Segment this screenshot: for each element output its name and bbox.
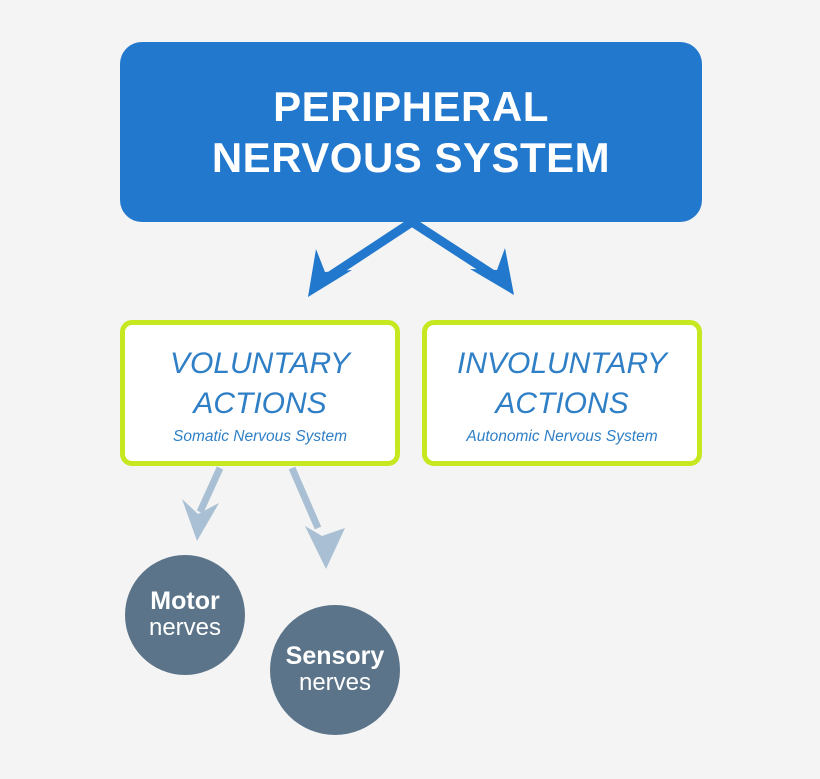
diagram-canvas: PERIPHERAL NERVOUS SYSTEM VOLUNTARY ACTI… (0, 0, 820, 779)
node-involuntary-actions-headline: INVOLUNTARY ACTIONS (457, 344, 667, 423)
node-voluntary-actions: VOLUNTARY ACTIONS Somatic Nervous System (120, 320, 400, 466)
node-motor-nerves-line-1: Motor (150, 588, 219, 614)
node-voluntary-actions-subline: Somatic Nervous System (173, 428, 347, 446)
node-voluntary-actions-headline: VOLUNTARY ACTIONS (170, 344, 350, 423)
node-motor-nerves-line-2: nerves (149, 615, 221, 642)
node-peripheral-nervous-system: PERIPHERAL NERVOUS SYSTEM (120, 42, 702, 222)
node-involuntary-actions-subline: Autonomic Nervous System (466, 428, 657, 446)
arrow-voluntary-to-motor (182, 468, 220, 541)
node-sensory-nerves: Sensory nerves (270, 605, 400, 735)
node-peripheral-nervous-system-label: PERIPHERAL NERVOUS SYSTEM (212, 81, 610, 183)
node-involuntary-actions: INVOLUNTARY ACTIONS Autonomic Nervous Sy… (422, 320, 702, 466)
arrow-root-to-involuntary (412, 222, 514, 295)
node-sensory-nerves-line-1: Sensory (286, 643, 385, 669)
arrow-voluntary-to-sensory (292, 468, 345, 569)
arrow-root-to-voluntary (308, 222, 412, 297)
node-sensory-nerves-line-2: nerves (299, 670, 371, 697)
node-motor-nerves: Motor nerves (125, 555, 245, 675)
